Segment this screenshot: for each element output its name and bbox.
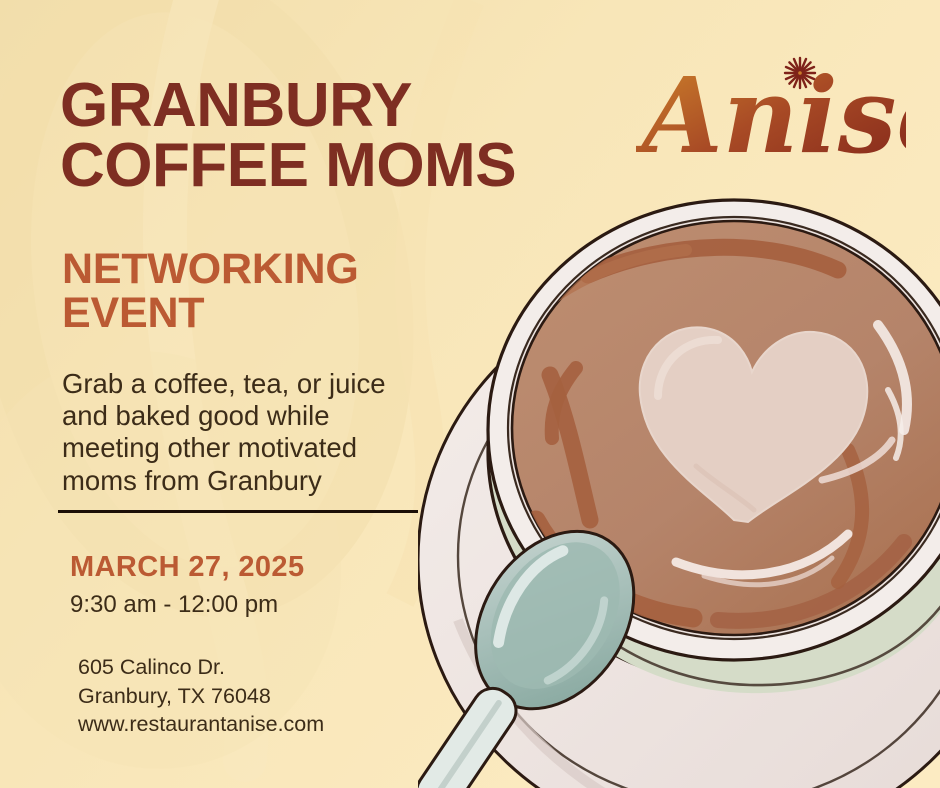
star-anise-icon xyxy=(785,58,815,88)
address-city-state-zip: Granbury, TX 76048 xyxy=(78,682,324,711)
event-date: MARCH 27, 2025 xyxy=(70,551,304,584)
description-line-2: and baked good while xyxy=(62,400,482,432)
horizontal-divider xyxy=(58,510,418,513)
logo-wordmark: Anise xyxy=(636,54,906,177)
website-url[interactable]: www.restaurantanise.com xyxy=(78,710,324,739)
description-line-1: Grab a coffee, tea, or juice xyxy=(62,368,482,400)
event-description: Grab a coffee, tea, or juice and baked g… xyxy=(62,368,482,498)
subtitle-line-2: EVENT xyxy=(62,292,532,336)
address-street: 605 Calinco Dr. xyxy=(78,653,324,682)
anise-logo-graphic: Anise xyxy=(636,40,906,180)
description-line-3: meeting other motivated xyxy=(62,432,482,464)
page-title: GRANBURY COFFEE MOMS xyxy=(60,76,620,198)
subtitle-line-1: NETWORKING xyxy=(62,245,359,293)
event-time: 9:30 am - 12:00 pm xyxy=(70,591,278,619)
description-line-4: moms from Granbury xyxy=(62,465,482,497)
anise-logo: Anise xyxy=(636,40,906,180)
flyer-canvas: GRANBURY COFFEE MOMS NETWORKING EVENT Gr… xyxy=(0,0,940,788)
text-content: GRANBURY COFFEE MOMS NETWORKING EVENT Gr… xyxy=(0,0,640,788)
venue-address: 605 Calinco Dr. Granbury, TX 76048 www.r… xyxy=(78,653,324,739)
event-subtitle: NETWORKING EVENT xyxy=(62,248,532,336)
title-line-1: GRANBURY xyxy=(60,71,412,140)
title-line-2: COFFEE MOMS xyxy=(60,136,620,197)
